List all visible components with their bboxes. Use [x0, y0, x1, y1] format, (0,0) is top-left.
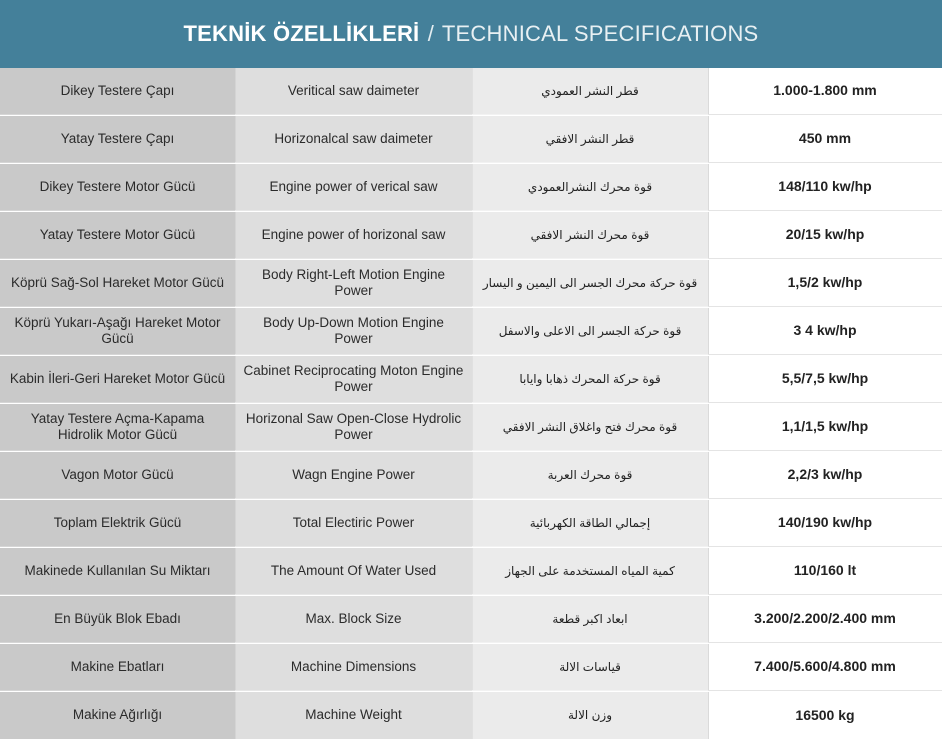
spec-label-english: Engine power of verical saw [235, 164, 472, 211]
spec-label-turkish: Dikey Testere Çapı [0, 68, 235, 115]
spec-value: 3.200/2.200/2.400 mm [708, 596, 942, 643]
table-row: Köprü Yukarı-Aşağı Hareket Motor GücüBod… [0, 308, 942, 356]
spec-label-arabic: قوة محرك النشرالعمودي [472, 164, 708, 211]
spec-label-arabic: قطر النشر العمودي [472, 68, 708, 115]
spec-label-arabic: ابعاد اكبر قطعة [472, 596, 708, 643]
spec-label-arabic: قوة محرك فتح واغلاق النشر الافقي [472, 404, 708, 451]
spec-value: 1,1/1,5 kw/hp [708, 404, 942, 451]
spec-label-arabic: قياسات الالة [472, 644, 708, 691]
spec-label-turkish: Köprü Yukarı-Aşağı Hareket Motor Gücü [0, 308, 235, 355]
spec-label-english: Cabinet Reciprocating Moton Engine Power [235, 356, 472, 403]
spec-label-arabic: إجمالي الطاقة الكهربائية [472, 500, 708, 547]
spec-label-arabic: كمية المياه المستخدمة على الجهاز [472, 548, 708, 595]
spec-value: 3 4 kw/hp [708, 308, 942, 355]
spec-label-english: The Amount Of Water Used [235, 548, 472, 595]
table-row: Makine AğırlığıMachine Weightوزن الالة16… [0, 692, 942, 739]
table-row: Yatay Testere Açma-Kapama Hidrolik Motor… [0, 404, 942, 452]
spec-value: 1,5/2 kw/hp [708, 260, 942, 307]
spec-label-english: Machine Dimensions [235, 644, 472, 691]
spec-label-turkish: Makinede Kullanılan Su Miktarı [0, 548, 235, 595]
spec-label-turkish: Yatay Testere Motor Gücü [0, 212, 235, 259]
spec-value: 1.000-1.800 mm [708, 68, 942, 115]
spec-label-turkish: Köprü Sağ-Sol Hareket Motor Gücü [0, 260, 235, 307]
spec-value: 110/160 lt [708, 548, 942, 595]
table-row: Makine EbatlarıMachine Dimensionsقياسات … [0, 644, 942, 692]
table-row: Yatay Testere ÇapıHorizonalcal saw daime… [0, 116, 942, 164]
spec-value: 450 mm [708, 116, 942, 163]
spec-value: 7.400/5.600/4.800 mm [708, 644, 942, 691]
spec-label-english: Max. Block Size [235, 596, 472, 643]
page-title-turkish: TEKNİK ÖZELLİKLERİ [184, 21, 420, 46]
spec-label-arabic: قوة حركة المحرك ذهابا وايابا [472, 356, 708, 403]
spec-label-turkish: Vagon Motor Gücü [0, 452, 235, 499]
spec-label-turkish: En Büyük Blok Ebadı [0, 596, 235, 643]
spec-value: 20/15 kw/hp [708, 212, 942, 259]
spec-label-arabic: قوة محرك العربة [472, 452, 708, 499]
spec-label-turkish: Yatay Testere Açma-Kapama Hidrolik Motor… [0, 404, 235, 451]
spec-label-english: Body Up-Down Motion Engine Power [235, 308, 472, 355]
technical-specifications-sheet: TEKNİK ÖZELLİKLERİ / TECHNICAL SPECIFICA… [0, 0, 942, 728]
table-row: Dikey Testere ÇapıVeritical saw daimeter… [0, 68, 942, 116]
spec-value: 148/110 kw/hp [708, 164, 942, 211]
table-row: Köprü Sağ-Sol Hareket Motor GücüBody Rig… [0, 260, 942, 308]
page-title-separator: / [426, 21, 436, 46]
spec-value: 2,2/3 kw/hp [708, 452, 942, 499]
page-title: TEKNİK ÖZELLİKLERİ / TECHNICAL SPECIFICA… [184, 23, 759, 45]
spec-value: 5,5/7,5 kw/hp [708, 356, 942, 403]
specifications-table: Dikey Testere ÇapıVeritical saw daimeter… [0, 68, 942, 739]
spec-label-turkish: Makine Ebatları [0, 644, 235, 691]
spec-label-arabic: وزن الالة [472, 692, 708, 739]
table-row: Makinede Kullanılan Su MiktarıThe Amount… [0, 548, 942, 596]
spec-label-arabic: قوة حركة الجسر الى الاعلى والاسفل [472, 308, 708, 355]
spec-label-english: Total Electiric Power [235, 500, 472, 547]
spec-label-english: Horizonal Saw Open-Close Hydrolic Power [235, 404, 472, 451]
spec-value: 16500 kg [708, 692, 942, 739]
table-row: En Büyük Blok EbadıMax. Block Sizeابعاد … [0, 596, 942, 644]
spec-value: 140/190 kw/hp [708, 500, 942, 547]
table-row: Dikey Testere Motor GücüEngine power of … [0, 164, 942, 212]
spec-label-turkish: Yatay Testere Çapı [0, 116, 235, 163]
spec-label-turkish: Toplam Elektrik Gücü [0, 500, 235, 547]
spec-label-turkish: Kabin İleri-Geri Hareket Motor Gücü [0, 356, 235, 403]
table-row: Vagon Motor GücüWagn Engine Powerقوة محر… [0, 452, 942, 500]
spec-label-turkish: Makine Ağırlığı [0, 692, 235, 739]
page-title-english: TECHNICAL SPECIFICATIONS [442, 21, 759, 46]
spec-label-english: Machine Weight [235, 692, 472, 739]
spec-label-english: Engine power of horizonal saw [235, 212, 472, 259]
spec-label-english: Wagn Engine Power [235, 452, 472, 499]
spec-label-arabic: قوة حركة محرك الجسر الى اليمين و اليسار [472, 260, 708, 307]
spec-label-turkish: Dikey Testere Motor Gücü [0, 164, 235, 211]
spec-label-arabic: قطر النشر الافقي [472, 116, 708, 163]
spec-label-arabic: قوة محرك النشر الافقي [472, 212, 708, 259]
spec-label-english: Horizonalcal saw daimeter [235, 116, 472, 163]
table-row: Toplam Elektrik GücüTotal Electiric Powe… [0, 500, 942, 548]
table-row: Kabin İleri-Geri Hareket Motor GücüCabin… [0, 356, 942, 404]
table-row: Yatay Testere Motor GücüEngine power of … [0, 212, 942, 260]
spec-label-english: Body Right-Left Motion Engine Power [235, 260, 472, 307]
sheet-header-band: TEKNİK ÖZELLİKLERİ / TECHNICAL SPECIFICA… [0, 0, 942, 68]
spec-label-english: Veritical saw daimeter [235, 68, 472, 115]
